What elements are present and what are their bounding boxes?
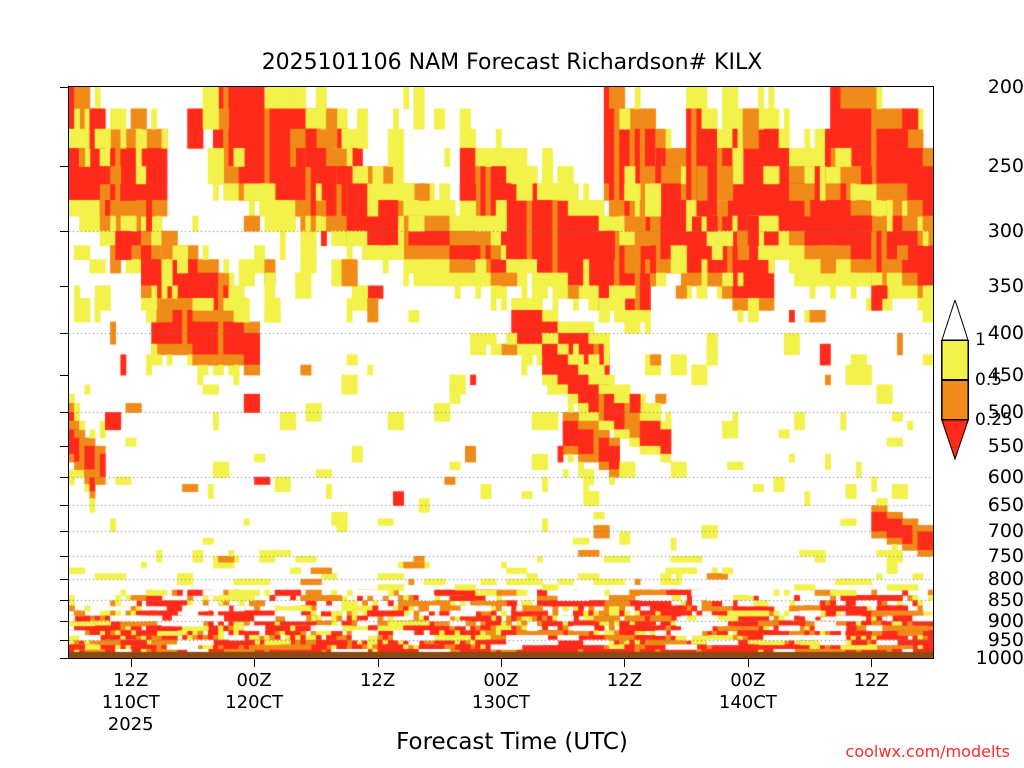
y-tick-mark <box>60 333 68 334</box>
x-tick-mark <box>871 659 872 667</box>
y-tick-label: 550 <box>962 435 1024 457</box>
y-tick-label: 650 <box>962 494 1024 516</box>
y-tick-mark <box>60 87 68 88</box>
legend-band-white <box>941 300 969 340</box>
x-tick-mark <box>501 659 502 667</box>
y-tick-label: 600 <box>962 466 1024 488</box>
chart-title: 2025101106 NAM Forecast Richardson# KILX <box>0 50 1024 75</box>
y-tick-mark <box>60 446 68 447</box>
color-legend: 1 0.5 0.25 <box>941 300 969 460</box>
y-tick-label: 700 <box>962 520 1024 542</box>
legend-label-025: 0.25 <box>975 410 1013 430</box>
y-tick-label: 850 <box>962 589 1024 611</box>
x-tick-sublabel: 130CT <box>441 692 561 713</box>
y-tick-label: 1000 <box>962 647 1024 669</box>
y-tick-mark <box>60 477 68 478</box>
y-tick-mark <box>60 505 68 506</box>
chart-root: 2025101106 NAM Forecast Richardson# KILX… <box>0 0 1024 768</box>
x-tick-sublabel: 110CT <box>71 692 191 713</box>
y-tick-label: 350 <box>962 275 1024 297</box>
x-tick-mark <box>254 659 255 667</box>
legend-label-05: 0.5 <box>975 370 1002 390</box>
y-tick-label: 800 <box>962 568 1024 590</box>
x-tick-label: 12Z <box>811 670 931 691</box>
y-tick-mark <box>60 658 68 659</box>
x-tick-mark <box>748 659 749 667</box>
x-tick-label: 00Z <box>441 670 561 691</box>
x-tick-label: 12Z <box>71 670 191 691</box>
y-tick-mark <box>60 640 68 641</box>
x-tick-mark <box>624 659 625 667</box>
y-tick-mark <box>60 531 68 532</box>
credit-text: coolwx.com/modelts <box>846 742 1010 761</box>
y-tick-label: 300 <box>962 220 1024 242</box>
y-tick-mark <box>60 375 68 376</box>
y-tick-label: 750 <box>962 545 1024 567</box>
y-tick-mark <box>60 231 68 232</box>
x-tick-label: 00Z <box>194 670 314 691</box>
y-tick-mark <box>60 579 68 580</box>
legend-band-red <box>941 420 969 460</box>
legend-label-1: 1 <box>975 330 986 350</box>
heatmap-canvas <box>69 87 933 658</box>
y-tick-mark <box>60 556 68 557</box>
x-tick-label: 00Z <box>688 670 808 691</box>
y-tick-mark <box>60 166 68 167</box>
plot-area <box>68 86 934 659</box>
y-tick-mark <box>60 600 68 601</box>
y-tick-mark <box>60 412 68 413</box>
x-tick-label: 12Z <box>318 670 438 691</box>
y-tick-label: 200 <box>962 76 1024 98</box>
x-tick-mark <box>131 659 132 667</box>
y-tick-mark <box>60 286 68 287</box>
legend-band-yellow <box>941 340 969 380</box>
x-tick-sublabel: 140CT <box>688 692 808 713</box>
x-tick-label: 12Z <box>564 670 684 691</box>
x-tick-mark <box>378 659 379 667</box>
legend-band-orange <box>941 380 969 420</box>
y-tick-mark <box>60 621 68 622</box>
y-tick-label: 400 <box>962 322 1024 344</box>
y-tick-label: 250 <box>962 155 1024 177</box>
x-tick-sublabel: 120CT <box>194 692 314 713</box>
